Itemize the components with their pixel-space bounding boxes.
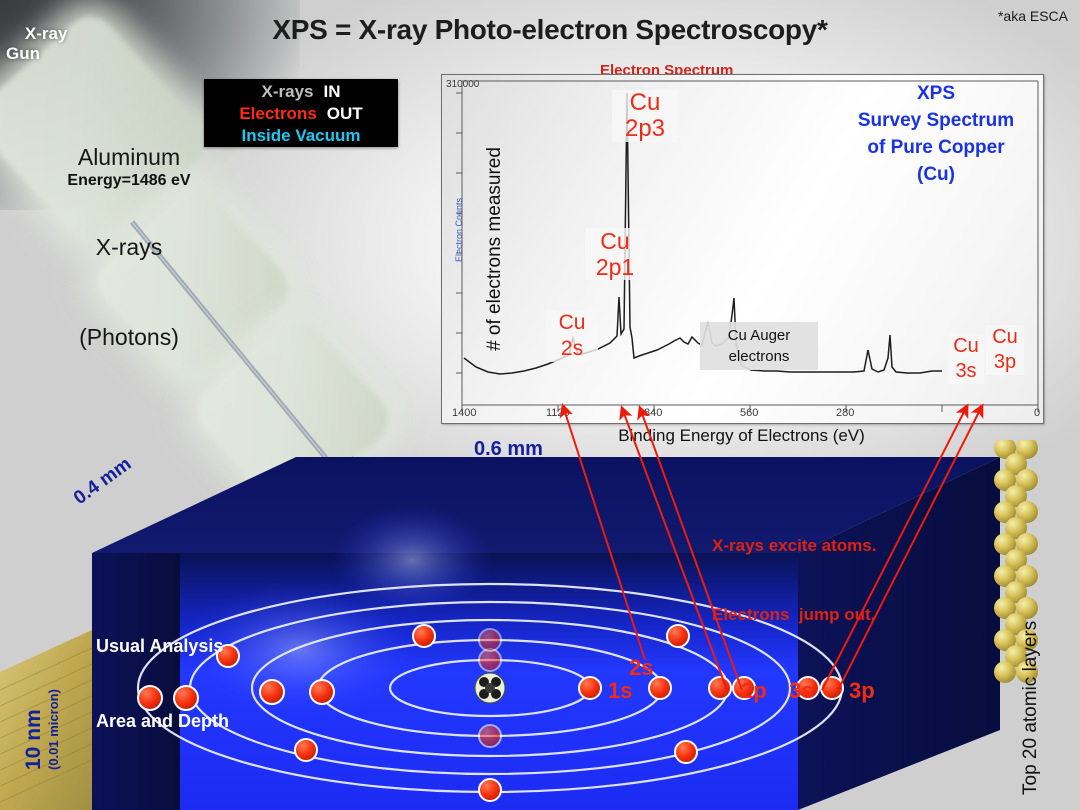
xrays-in-label: X-rays: [262, 81, 314, 103]
glow-spot-2: [332, 505, 492, 615]
process-summary-box: X-rays IN Electrons OUT Inside Vacuum: [204, 79, 398, 147]
source-line-1: Aluminum: [34, 142, 224, 172]
peak-label-cu-3p: Cu 3p: [986, 325, 1024, 375]
analysis-line-2: Area and Depth: [96, 709, 296, 734]
inside-vacuum-label: Inside Vacuum: [241, 125, 360, 147]
title-footnote: *aka ESCA: [998, 8, 1068, 24]
peak-3s-element: Cu: [948, 334, 984, 359]
peak-3s-orbital: 3s: [948, 359, 984, 384]
process-row-electrons-out: Electrons OUT: [204, 103, 398, 125]
survey-line-3: of Pure Copper: [836, 134, 1036, 161]
auger-annotation: Cu Auger electrons: [700, 322, 818, 370]
peak-2s-element: Cu: [546, 310, 598, 336]
nucleus-icon: [475, 673, 505, 703]
page-title: XPS = X-ray Photo-electron Spectroscopy*: [220, 14, 880, 46]
process-row-xrays-in: X-rays IN: [204, 79, 398, 103]
peak-label-cu-2p3: Cu 2p3: [612, 90, 678, 142]
survey-line-2: Survey Spectrum: [836, 107, 1036, 134]
analysis-line-1: Usual Analysis: [96, 634, 296, 659]
thickness-value: 10 nm: [22, 709, 45, 770]
orbital-label-1s: 1s: [608, 678, 632, 704]
dimension-width-label: 0.6 mm: [474, 438, 543, 461]
excite-line-1: X-rays excite atoms.: [712, 534, 952, 557]
source-line-2: X-rays: [34, 232, 224, 262]
orbital-label-3s: 3s: [789, 678, 813, 704]
peak-3p-orbital: 3p: [986, 350, 1024, 375]
in-label: IN: [323, 81, 340, 103]
excitation-note: X-rays excite atoms. Electrons jump out.: [712, 488, 952, 672]
atomic-layers-label: Top 20 atomic layers: [1020, 621, 1042, 795]
analysis-area-label: Usual Analysis Area and Depth: [96, 584, 296, 784]
peak-label-cu-2p1: Cu 2p1: [585, 228, 645, 280]
peak-label-cu-2s: Cu 2s: [546, 310, 598, 362]
slide-canvas: X-rayGun Aluminum X-rays (Photons) Energ…: [0, 0, 1080, 810]
thickness-subvalue: (0.01 micron): [46, 689, 61, 770]
orbital-label-2s: 2s: [629, 655, 653, 681]
peak-2p1-orbital: 2p1: [585, 254, 645, 280]
survey-spectrum-caption: XPS Survey Spectrum of Pure Copper (Cu): [836, 80, 1036, 188]
xray-gun-label: X-rayGun: [6, 4, 67, 84]
x-axis-tick-labels: 1400 1120 840 560 280 0: [442, 407, 1043, 427]
peak-2p3-element: Cu: [612, 90, 678, 116]
orbital-label-2p: 2p: [741, 678, 767, 704]
peak-2s-orbital: 2s: [546, 336, 598, 362]
peak-2p3-orbital: 2p3: [612, 116, 678, 142]
auger-line-1: Cu Auger: [704, 325, 814, 346]
process-row-vacuum: Inside Vacuum: [204, 125, 398, 147]
dimension-thickness-label: 10 nm (0.01 micron): [22, 689, 61, 770]
survey-line-1: XPS: [836, 80, 1036, 107]
peak-2p1-element: Cu: [585, 228, 645, 254]
peak-label-cu-3s: Cu 3s: [948, 334, 984, 384]
xray-energy-label: Energy=1486 eV: [34, 172, 224, 190]
orbital-label-3p: 3p: [849, 678, 875, 704]
out-label: OUT: [327, 103, 363, 125]
source-line-3: (Photons): [34, 322, 224, 352]
auger-line-2: electrons: [704, 346, 814, 367]
y-axis-ticks: [456, 93, 462, 373]
peak-3p-element: Cu: [986, 325, 1024, 350]
electrons-out-label: Electrons: [239, 103, 316, 125]
xray-source-description: Aluminum X-rays (Photons): [34, 82, 224, 412]
survey-line-4: (Cu): [836, 161, 1036, 188]
excite-line-2: Electrons jump out.: [712, 603, 952, 626]
